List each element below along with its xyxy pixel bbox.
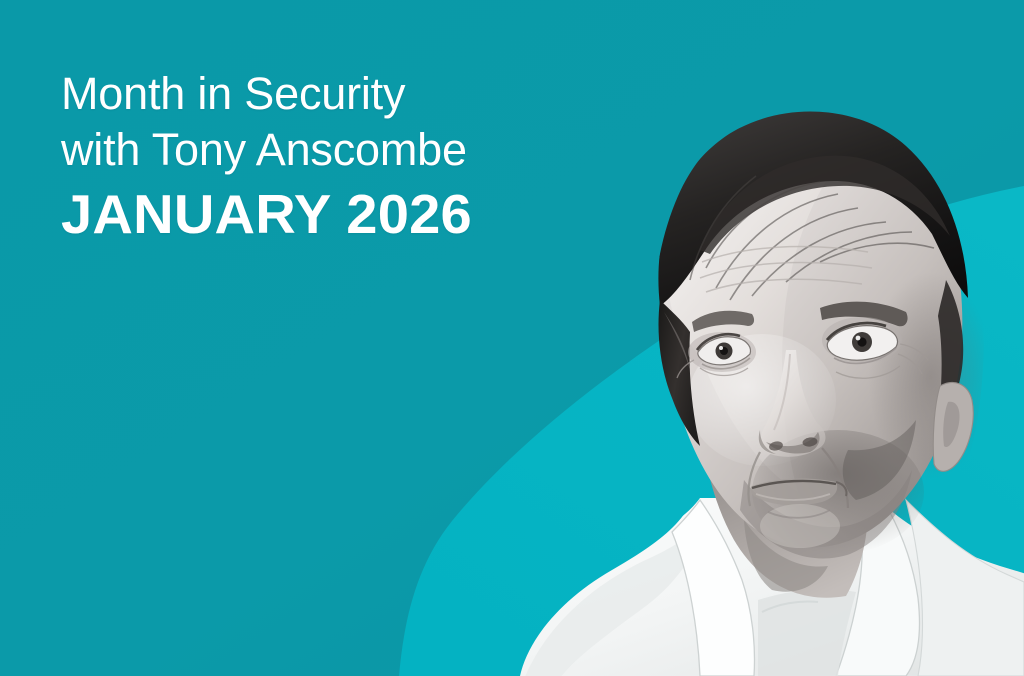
headline-edition: JANUARY 2026: [61, 183, 475, 245]
headline-line-2: with Tony Anscombe: [61, 122, 467, 178]
headline-block: Month in Security with Tony Anscombe JAN…: [61, 66, 467, 245]
promo-banner: Month in Security with Tony Anscombe JAN…: [0, 0, 1024, 676]
headline-line-1: Month in Security: [61, 66, 467, 122]
